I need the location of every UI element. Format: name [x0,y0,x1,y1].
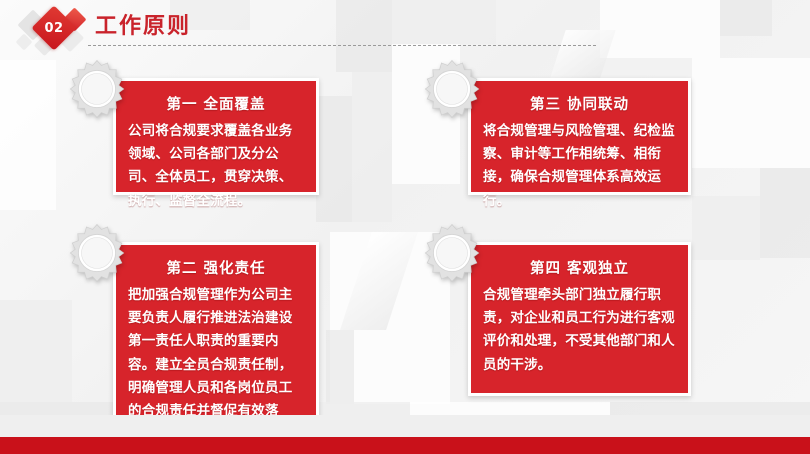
principle-card-4: 第四 客观独立 合规管理牵头部门独立履行职责，对企业和员工行为进行客观评价和处理… [468,242,691,396]
bg-block [352,72,392,222]
bg-block [326,330,354,404]
principle-card-1-title: 第一 全面覆盖 [128,93,304,114]
gear-icon [421,58,483,120]
bg-block [692,196,760,260]
principle-card-1: 第一 全面覆盖 公司将合规要求覆盖各业务领域、公司各部门及分公司、全体员工，贯穿… [113,78,319,195]
principle-card-3: 第三 协同联动 将合规管理与风险管理、纪检监察、审计等工作相统筹、相衔接，确保合… [468,78,691,195]
bg-block [316,96,352,222]
principle-card-3-title: 第三 协同联动 [483,93,676,114]
header-divider [88,45,596,46]
bg-block [0,60,56,210]
page-title: 工作原则 [95,8,191,40]
slide-header: 02 工作原则 [0,0,810,56]
gear-icon [421,222,483,284]
principle-card-3-body: 将合规管理与风险管理、纪检监察、审计等工作相统筹、相衔接，确保合规管理体系高效运… [483,120,676,213]
principle-card-4-body: 合规管理牵头部门独立履行职责，对企业和员工行为进行客观评价和处理，不受其他部门和… [483,284,676,377]
footer-strip [0,415,810,437]
principle-card-2-title: 第二 强化责任 [128,257,304,278]
gear-icon [66,58,128,120]
principle-card-1-body: 公司将合规要求覆盖各业务领域、公司各部门及分公司、全体员工，贯穿决策、执行、监督… [128,120,304,213]
bg-block [0,300,72,402]
principle-card-4-title: 第四 客观独立 [483,257,676,278]
principle-card-2: 第二 强化责任 把加强合规管理作为公司主要负责人履行推进法治建设第一责任人职责的… [113,242,319,426]
diamond-badge-icon: 02 [16,4,100,56]
bg-block [760,168,810,258]
section-number: 02 [38,12,70,44]
slide-canvas: 02 工作原则 第一 全面覆盖 公司将合规要求覆盖各业务领域、公司各部门及分公司… [0,0,810,454]
bg-block [692,58,810,168]
footer-bar [0,437,810,454]
gear-icon [66,222,128,284]
